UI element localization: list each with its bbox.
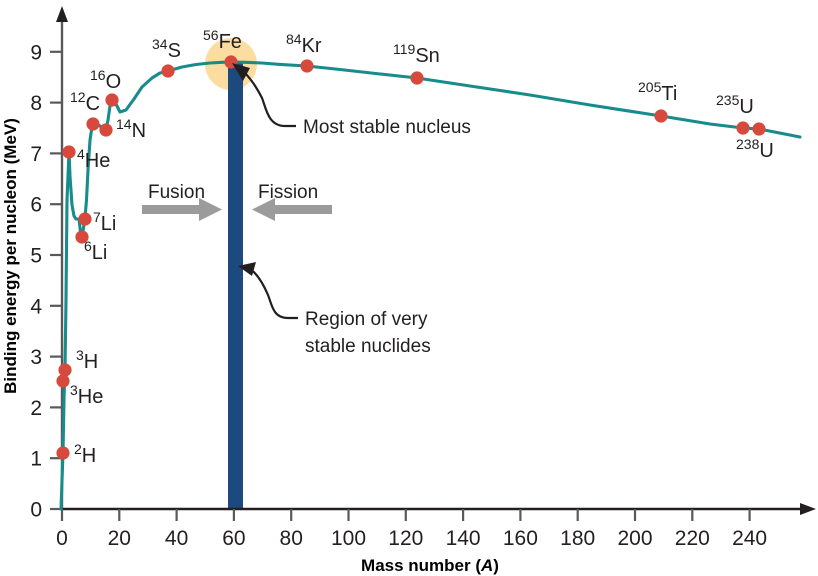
data-point-2H — [56, 446, 69, 459]
nuclide-sym: U — [739, 96, 753, 118]
most-stable-nucleus-leader-line — [244, 72, 296, 126]
y-tick-label: 6 — [30, 194, 42, 217]
nuclide-sup: 14 — [116, 116, 132, 132]
most-stable-nucleus-annotation: Most stable nucleus — [232, 63, 471, 138]
x-tick-label: 180 — [560, 527, 595, 550]
x-tick-label: 200 — [617, 527, 652, 550]
y-axis-title: Binding energy per nucleon (MeV) — [1, 118, 20, 394]
x-tick-label: 60 — [222, 527, 245, 550]
binding-energy-curve-chart: 0 1 2 3 4 5 6 7 8 9 0 20 40 60 80 100 12… — [0, 0, 818, 576]
data-point-119Sn — [410, 71, 423, 84]
x-axis-title-main: Mass number ( — [361, 556, 481, 575]
x-axis-arrowhead — [800, 503, 816, 515]
y-tick-label: 5 — [30, 245, 42, 268]
nuclide-label-56Fe: 56Fe — [203, 27, 242, 53]
x-tick-label: 120 — [388, 527, 423, 550]
data-point-14N — [99, 123, 112, 136]
most-stable-nucleus-label: Most stable nucleus — [303, 117, 471, 138]
nuclide-label-84Kr: 84Kr — [286, 31, 322, 57]
nuclide-label-3He: 3He — [70, 382, 103, 408]
nuclide-sup: 119 — [393, 41, 416, 57]
y-tick-labels: 0 1 2 3 4 5 6 7 8 9 — [30, 41, 42, 521]
x-axis-title: Mass number (A) — [361, 556, 499, 575]
nuclide-sup: 4 — [77, 146, 85, 162]
x-axis-title-close: ) — [493, 556, 499, 575]
x-tick-label: 40 — [165, 527, 188, 550]
y-tick-label: 9 — [30, 41, 42, 64]
region-stable-nuclides-label-line2: stable nuclides — [305, 336, 431, 357]
fission-label: Fission — [258, 182, 318, 203]
nuclide-sup: 84 — [286, 31, 302, 47]
x-axis-title-italic: A — [480, 556, 493, 575]
y-tick-label: 7 — [30, 143, 42, 166]
stable-nuclides-band — [228, 62, 243, 509]
region-stable-nuclides-label-line1: Region of very — [305, 309, 428, 330]
x-ticks — [62, 509, 750, 521]
data-point-3He — [56, 374, 69, 387]
x-tick-label: 100 — [331, 527, 366, 550]
nuclide-sup: 12 — [70, 89, 86, 105]
x-tick-label: 220 — [675, 527, 710, 550]
plot-area: 0 1 2 3 4 5 6 7 8 9 0 20 40 60 80 100 12… — [0, 0, 818, 576]
nuclide-label-34S: 34S — [152, 36, 181, 62]
nuclide-label-14N: 14N — [116, 116, 146, 142]
y-axis-arrowhead — [56, 6, 68, 22]
y-tick-label: 3 — [30, 346, 42, 369]
y-tick-label: 8 — [30, 92, 42, 115]
nuclide-label-6Li: 6Li — [84, 238, 107, 264]
nuclide-sup: 3 — [70, 382, 78, 398]
nuclide-sup: 238 — [736, 136, 760, 152]
nuclide-label-12C: 12C — [70, 89, 100, 115]
nuclide-sup: 2 — [74, 441, 82, 457]
nuclide-sym: C — [86, 93, 100, 115]
nuclide-sym: U — [759, 140, 773, 162]
y-ticks — [50, 52, 62, 509]
nuclide-sup: 7 — [93, 209, 101, 225]
nuclide-sup: 56 — [203, 27, 219, 43]
data-point-12C — [86, 117, 99, 130]
nuclide-sup: 16 — [90, 67, 106, 83]
nuclide-sup: 3 — [76, 347, 84, 363]
data-point-84Kr — [300, 59, 313, 72]
nuclide-label-3H: 3H — [76, 347, 98, 373]
nuclide-label-205Ti: 205Ti — [638, 79, 677, 105]
y-tick-label: 2 — [30, 397, 42, 420]
nuclide-sym: Ti — [661, 83, 677, 105]
y-tick-label: 0 — [30, 499, 42, 522]
axes-group: 0 1 2 3 4 5 6 7 8 9 0 20 40 60 80 100 12… — [1, 6, 816, 575]
fusion-label: Fusion — [148, 182, 205, 203]
x-tick-label: 0 — [56, 527, 68, 550]
nuclide-sym: S — [168, 40, 181, 62]
nuclide-sym: H — [82, 445, 96, 467]
nuclide-sym: O — [106, 71, 122, 93]
x-tick-label: 140 — [446, 527, 481, 550]
data-point-16O — [105, 93, 118, 106]
nuclide-label-4He: 4He — [77, 146, 110, 172]
nuclide-sym: He — [85, 150, 111, 172]
nuclide-labels: 2H 3He 3H 4He 6Li 7Li 12C 14N 16O 34S 56… — [70, 27, 774, 467]
nuclide-label-7Li: 7Li — [93, 209, 116, 235]
region-stable-nuclides-annotation: Region of very stable nuclides — [238, 262, 431, 357]
nuclide-sym: Fe — [219, 31, 242, 53]
nuclide-sym: H — [84, 351, 98, 373]
nuclide-sym: Kr — [302, 35, 322, 57]
nuclide-sym: Li — [92, 242, 108, 264]
x-tick-labels: 0 20 40 60 80 100 120 140 160 180 200 22… — [56, 527, 767, 550]
nuclide-label-238U: 238U — [736, 136, 774, 162]
data-point-7Li — [78, 212, 91, 225]
nuclide-sym: Li — [101, 213, 117, 235]
nuclide-label-2H: 2H — [74, 441, 96, 467]
x-tick-label: 20 — [108, 527, 131, 550]
nuclide-sym: He — [78, 386, 104, 408]
data-point-4He — [62, 145, 75, 158]
y-tick-label: 4 — [30, 295, 42, 318]
nuclide-label-16O: 16O — [90, 67, 121, 93]
region-stable-nuclides-leader-line — [249, 268, 298, 318]
data-point-3H — [58, 363, 71, 376]
nuclide-sym: Sn — [415, 45, 439, 67]
x-tick-label: 160 — [503, 527, 538, 550]
nuclide-label-235U: 235U — [716, 92, 754, 118]
nuclide-sym: N — [132, 120, 146, 142]
x-tick-label: 80 — [280, 527, 303, 550]
nuclide-sup: 6 — [84, 238, 92, 254]
y-tick-label: 1 — [30, 448, 42, 471]
nuclide-label-119Sn: 119Sn — [393, 41, 440, 67]
data-point-205Ti — [654, 109, 667, 122]
nuclide-sup: 235 — [716, 92, 740, 108]
nuclide-sup: 34 — [152, 36, 168, 52]
data-point-235U — [736, 121, 749, 134]
data-point-34S — [161, 64, 174, 77]
data-point-238U — [752, 122, 765, 135]
x-tick-label: 240 — [732, 527, 767, 550]
nuclide-sup: 205 — [638, 79, 662, 95]
